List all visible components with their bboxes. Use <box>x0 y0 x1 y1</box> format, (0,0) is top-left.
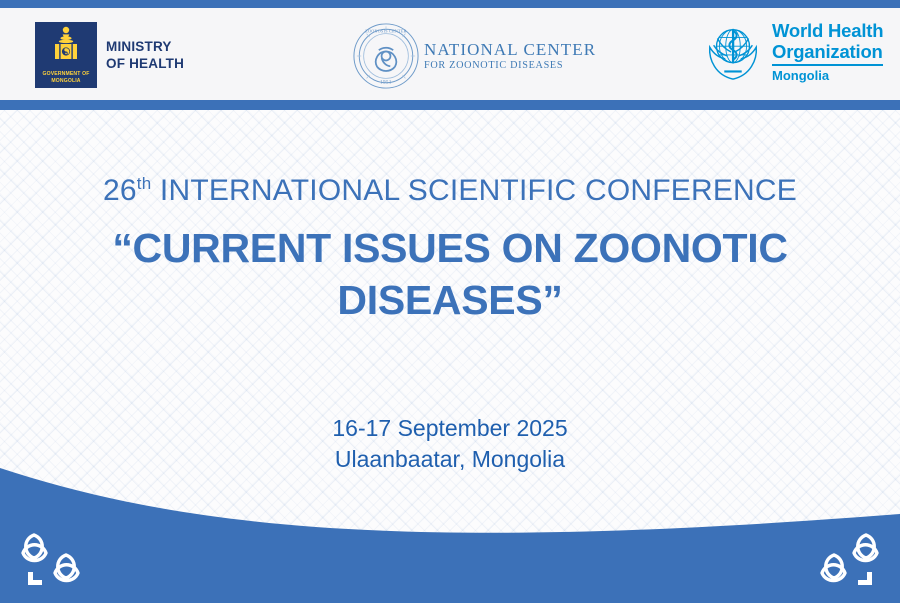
government-of-mongolia-crest: GOVERNMENT OF MONGOLIA <box>35 22 97 88</box>
edition-number: 26 <box>103 174 137 207</box>
national-center-zoonotic-diseases-logo: ZOONOSIS CENTER 1951 NATIONAL CENTER FOR… <box>352 22 596 90</box>
who-name-line2: Organization <box>772 42 883 63</box>
who-emblem-icon <box>702 21 764 83</box>
who-divider <box>772 64 883 66</box>
header-accent-bar <box>0 100 900 110</box>
ministry-name-line1: MINISTRY <box>106 38 184 55</box>
svg-text:1951: 1951 <box>380 81 392 86</box>
who-name-line1: World Health <box>772 21 883 42</box>
conference-label: INTERNATIONAL SCIENTIFIC CONFERENCE <box>160 174 797 207</box>
wave-blue-shape <box>0 468 900 603</box>
top-accent-bar <box>0 0 900 8</box>
who-country-label: Mongolia <box>772 68 883 83</box>
soyombo-symbol-icon <box>51 25 81 67</box>
conference-theme-title: “CURRENT ISSUES ON ZOONOTIC DISEASES” <box>0 222 900 326</box>
conference-title-slide: GOVERNMENT OF MONGOLIA MINISTRY OF HEALT… <box>0 0 900 603</box>
ministry-of-health-logo: GOVERNMENT OF MONGOLIA MINISTRY OF HEALT… <box>35 22 184 88</box>
who-logo: World Health Organization Mongolia <box>702 21 883 83</box>
ornament-left <box>14 527 92 589</box>
svg-text:ZOONOSIS CENTER: ZOONOSIS CENTER <box>365 29 406 34</box>
conference-edition-line: 26th INTERNATIONAL SCIENTIFIC CONFERENCE <box>0 172 900 210</box>
ministry-of-health-name: MINISTRY OF HEALTH <box>106 38 184 72</box>
national-center-name: NATIONAL CENTER FOR ZOONOTIC DISEASES <box>424 40 596 72</box>
footer-wave-shape <box>0 430 900 603</box>
footer-wave <box>0 430 900 603</box>
crest-caption-line2: MONGOLIA <box>51 78 80 84</box>
ministry-name-line2: OF HEALTH <box>106 55 184 72</box>
mongolian-knot-ornament-icon <box>14 527 92 589</box>
mongolian-knot-ornament-icon <box>808 527 886 589</box>
crest-caption: GOVERNMENT OF MONGOLIA <box>35 71 97 84</box>
edition-suffix: th <box>137 174 152 193</box>
title-block: 26th INTERNATIONAL SCIENTIFIC CONFERENCE… <box>0 172 900 326</box>
biohazard-seal-icon: ZOONOSIS CENTER 1951 <box>352 22 420 90</box>
national-center-name-line1: NATIONAL CENTER <box>424 40 596 59</box>
who-name-block: World Health Organization Mongolia <box>772 21 883 83</box>
national-center-name-line2: FOR ZOONOTIC DISEASES <box>424 59 596 72</box>
ornament-right <box>808 527 886 589</box>
crest-caption-line1: GOVERNMENT OF <box>43 71 90 77</box>
